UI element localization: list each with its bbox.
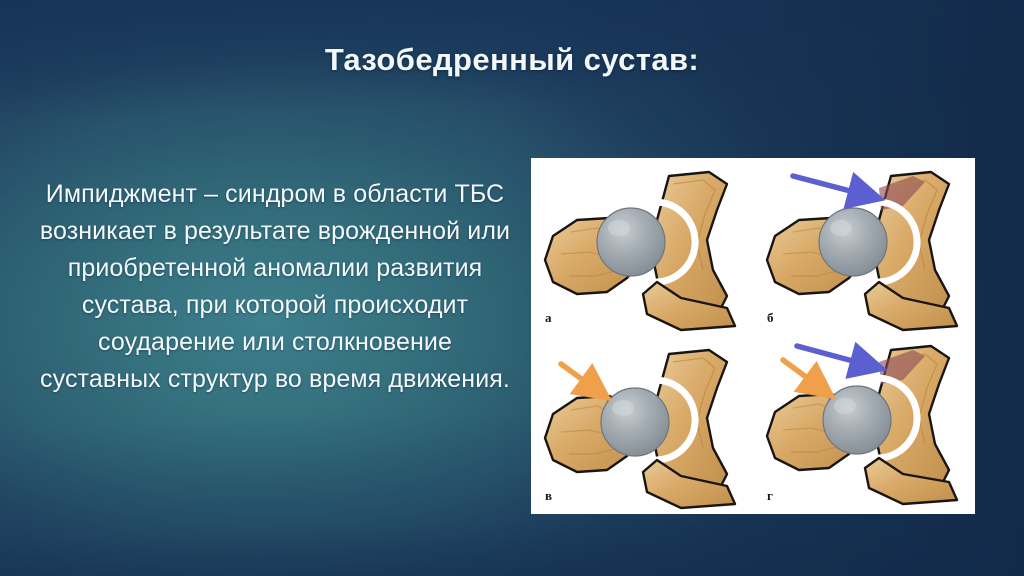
femoral-head-highlight xyxy=(834,398,856,414)
presentation-slide: Тазобедренный сустав: Импиджмент – синдр… xyxy=(0,0,1024,576)
figure-label-g: г xyxy=(767,488,773,504)
femoral-head-highlight xyxy=(612,400,634,416)
blue-arrow-icon xyxy=(797,346,879,368)
hip-joint-illustration-v xyxy=(531,336,753,514)
figure-cell-a: а xyxy=(531,158,753,336)
hip-joint-illustration-g xyxy=(753,336,975,514)
figure-cell-v: в xyxy=(531,336,753,514)
figure-label-b: б xyxy=(767,310,774,326)
hip-impingement-figure-panel: а xyxy=(531,158,975,514)
slide-body-text: Импиджмент – синдром в области ТБС возни… xyxy=(36,176,514,398)
femoral-head xyxy=(601,388,669,456)
femoral-head xyxy=(819,208,887,276)
femoral-head-highlight xyxy=(830,220,852,236)
femoral-head xyxy=(823,386,891,454)
femoral-head xyxy=(597,208,665,276)
figure-cell-b: б xyxy=(753,158,975,336)
hip-joint-illustration-a xyxy=(531,158,753,336)
blue-arrow-icon xyxy=(793,176,877,198)
figure-cell-g: г xyxy=(753,336,975,514)
hip-joint-illustration-b xyxy=(753,158,975,336)
orange-arrow-icon xyxy=(561,364,605,396)
orange-arrow-icon xyxy=(783,360,829,394)
figure-label-a: а xyxy=(545,310,552,326)
femoral-head-highlight xyxy=(608,220,630,236)
slide-title: Тазобедренный сустав: xyxy=(0,42,1024,78)
figure-label-v: в xyxy=(545,488,552,504)
